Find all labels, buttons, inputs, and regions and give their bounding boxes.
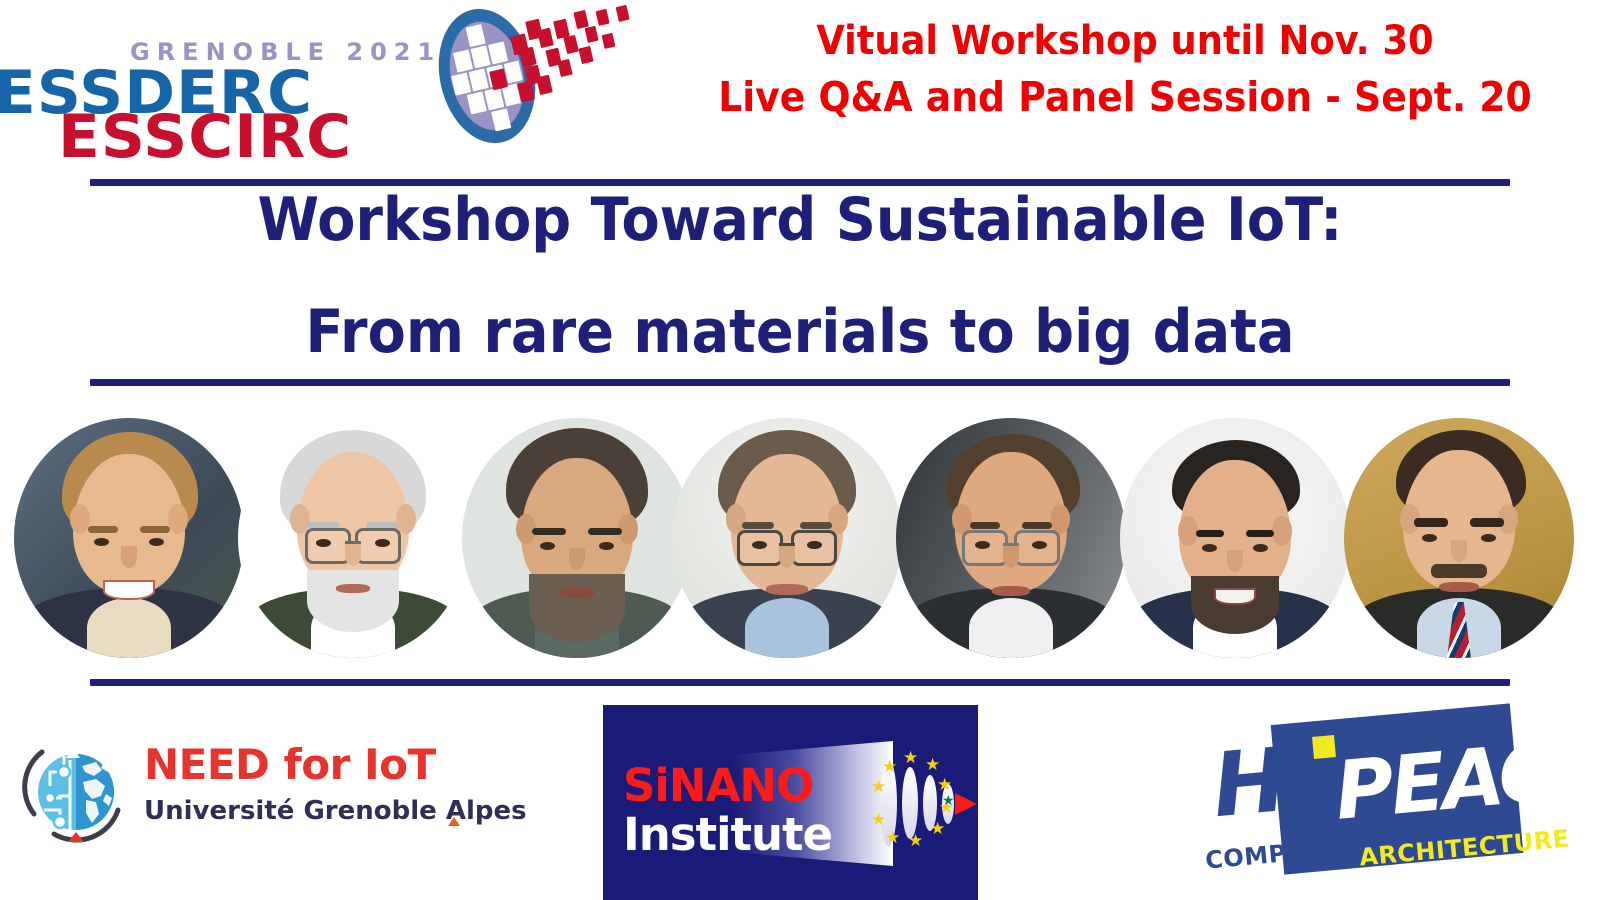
hipeac-hi-mark: Hi [1209,734,1312,830]
title-line-2: From rare materials to big data [56,302,1544,362]
need-subtitle-alpes-a: A [446,798,466,824]
speaker-photo [1120,418,1350,658]
sinano-institute-logo: ★ ★ ★ ★ ★ ★ ★ ★ ★ ★ ★ SiNANO Institute [603,705,978,900]
speaker-photo [238,418,468,658]
poster-header: GRENOBLE 2021 ESSDERC ESSCIRC [0,0,1600,170]
eu-star-icon: ★ [937,776,952,793]
speaker-photo [896,418,1126,658]
hipeac-peac-mark: PEAC [1332,732,1558,832]
eu-star-icon: ★ [908,832,923,849]
workshop-poster: GRENOBLE 2021 ESSDERC ESSCIRC [0,0,1600,900]
speaker-photo [672,418,902,658]
cone-segment [902,767,918,839]
hipeac-logo: Hi PEAC COMPILATION ARCHITECTURE [1195,708,1525,888]
divider-rule-middle [90,379,1510,386]
eu-star-icon: ★ [925,756,940,773]
globe-circuit-icon [20,736,132,848]
speaker-photo [462,418,692,658]
sinano-institute-label: Institute [623,812,832,857]
essderc-esscirc-logo: GRENOBLE 2021 ESSDERC ESSCIRC [0,38,420,153]
eu-star-icon: ★ [871,811,886,828]
need-for-iot-title: NEED for IoT [144,744,527,786]
speaker-photo-row [0,418,1600,668]
esscirc-wordmark: ESSCIRC [58,102,352,172]
sinano-name: SiNANO [623,763,832,808]
page-title: Workshop Toward Sustainable IoT: From ra… [0,190,1600,362]
announcement-line-2: Live Q&A and Panel Session - Sept. 20 [697,69,1553,126]
wafer-chip-icon [425,2,640,152]
sinano-wordmark: SiNANO Institute [623,763,832,857]
need-subtitle-pre: Université Grenoble [144,796,446,826]
eu-star-icon: ★ [882,758,897,775]
divider-rule-bottom [90,679,1510,686]
eu-star-icon: ★ [930,820,945,837]
need-for-iot-logo: NEED for IoT Université Grenoble Alpes [14,728,494,858]
cone-tip-icon [955,793,977,815]
need-for-iot-text: NEED for IoT Université Grenoble Alpes [144,744,527,824]
eu-star-icon: ★ [885,829,900,846]
title-line-1: Workshop Toward Sustainable IoT: [56,190,1544,250]
announcement-block: Vitual Workshop until Nov. 30 Live Q&A a… [660,14,1590,126]
eu-star-icon: ★ [871,778,886,795]
eu-star-icon: ★ [903,749,918,766]
speaker-photo [1344,418,1574,658]
need-subtitle-post: lpes [466,796,527,826]
announcement-line-1: Vitual Workshop until Nov. 30 [697,14,1553,69]
speaker-photo [14,418,244,658]
need-for-iot-subtitle: Université Grenoble Alpes [144,798,527,824]
orange-triangle-icon [448,817,460,826]
eu-star-icon: ★ [942,793,955,807]
sponsor-logo-row: NEED for IoT Université Grenoble Alpes ★… [0,692,1600,900]
